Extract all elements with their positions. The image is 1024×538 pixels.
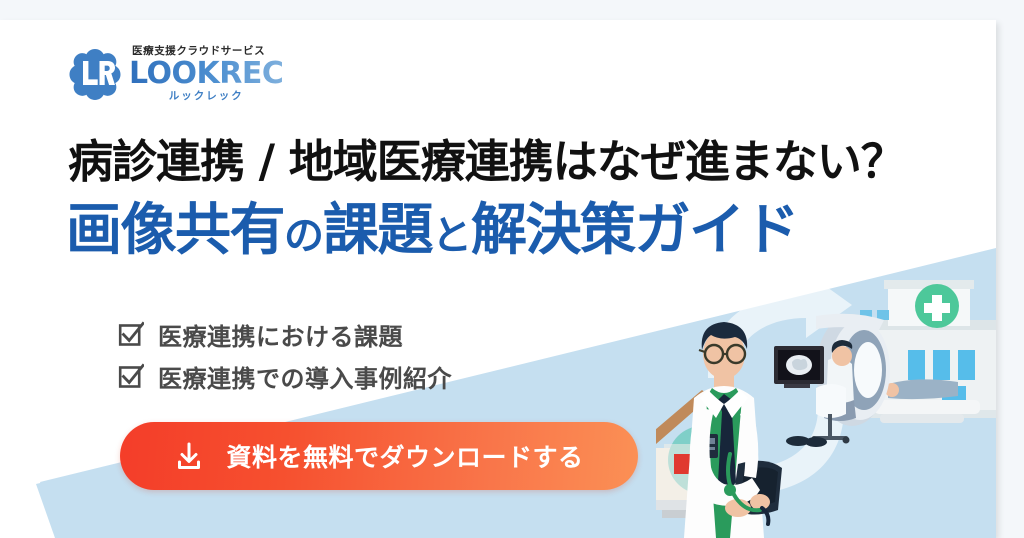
exchange-arrows-icon	[700, 272, 852, 514]
clinic-house-red-cross-icon	[656, 390, 756, 518]
download-button-label: 資料を無料でダウンロードする	[226, 438, 583, 474]
page-subtitle: 画像共有の課題と解決策ガイド	[66, 200, 798, 262]
brain-scan-monitor-icon	[774, 346, 824, 388]
list-item-label: 医療連携での導入事例紹介	[158, 359, 452, 394]
brand-name: LOOKREC	[129, 59, 283, 89]
subtitle-part-5: 解決策ガイド	[471, 198, 798, 263]
hero-card: 医療支援クラウドサービス LOOKREC ルックレック 病診連携 / 地域医療連…	[0, 20, 996, 538]
subtitle-part-1: 画像共有	[66, 198, 284, 263]
list-item: 医療連携での導入事例紹介	[118, 360, 452, 392]
subtitle-part-2: の	[284, 213, 323, 259]
ct-scanner-with-patient-figure	[774, 314, 980, 447]
list-item-label: 医療連携における課題	[158, 317, 403, 352]
brand-tagline: 医療支援クラウドサービス	[132, 46, 283, 57]
feature-checklist: 医療連携における課題 医療連携での導入事例紹介	[118, 318, 452, 402]
hospital-building-green-cross-icon	[852, 280, 996, 418]
download-button[interactable]: 資料を無料でダウンロードする	[120, 422, 638, 490]
hero-illustration	[656, 258, 996, 538]
lookrec-lr-monogram-icon	[68, 47, 122, 101]
subtitle-part-3: 課題	[323, 198, 432, 263]
doctor-with-clipboard-figure	[684, 322, 782, 538]
brand-kana: ルックレック	[129, 91, 283, 102]
download-icon	[174, 441, 204, 471]
checkbox-checked-icon	[118, 363, 144, 389]
brand-logo[interactable]: 医療支援クラウドサービス LOOKREC ルックレック	[68, 46, 283, 101]
subtitle-part-4: と	[432, 213, 471, 259]
checkbox-checked-icon	[118, 321, 144, 347]
page-title: 病診連携 / 地域医療連携はなぜ進まない？	[68, 138, 905, 185]
list-item: 医療連携における課題	[118, 318, 452, 350]
